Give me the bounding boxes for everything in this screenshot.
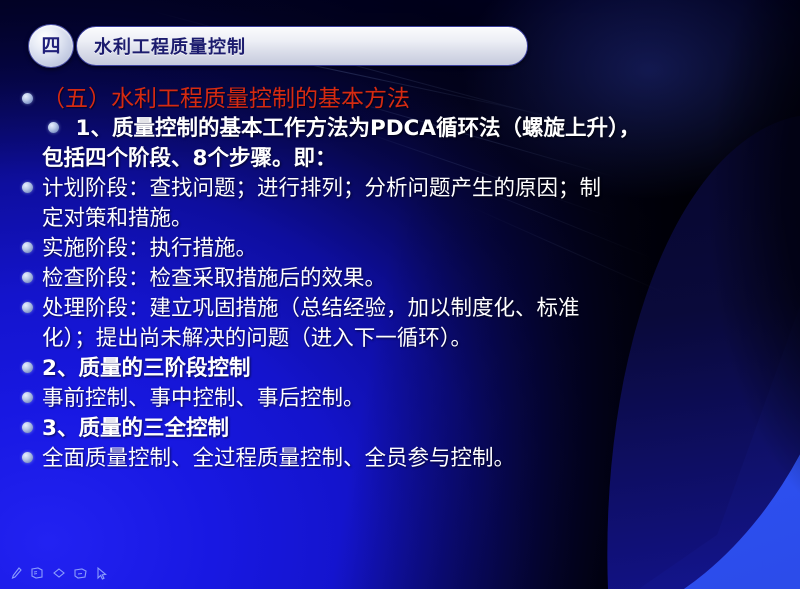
bullet-icon — [22, 422, 33, 433]
bullet-icon — [22, 242, 33, 253]
body-line-text: 包括四个阶段、8个步骤。即： — [42, 146, 336, 171]
body-line-text: 计划阶段：查找问题；进行排列；分析问题产生的原因；制 — [42, 176, 601, 201]
body-line-item-2a: 计划阶段：查找问题；进行排列；分析问题产生的原因；制 — [22, 174, 782, 204]
body-line-text: 事前控制、事中控制、事后控制。 — [42, 386, 365, 411]
body-line-item-8: 3、质量的三全控制 — [22, 414, 782, 444]
slide-title: 水利工程质量控制 — [94, 33, 246, 59]
slideshow-nav-icons[interactable] — [10, 566, 108, 581]
slide-icon[interactable] — [73, 566, 88, 581]
body-line-text: 检查阶段：检查采取措施后的效果。 — [42, 266, 386, 291]
body-line-text: 处理阶段：建立巩固措施（总结经验，加以制度化、标准 — [42, 296, 580, 321]
bullet-icon — [22, 302, 33, 313]
body-line-text: 全面质量控制、全过程质量控制、全员参与控制。 — [42, 446, 515, 471]
body-line-item-5a: 处理阶段：建立巩固措施（总结经验，加以制度化、标准 — [22, 294, 782, 324]
section-number-badge: 四 — [28, 24, 74, 68]
bullet-icon — [22, 392, 33, 403]
body-line-item-2b: 定对策和措施。 — [22, 204, 782, 234]
bullet-icon — [48, 122, 59, 133]
body-line-text: （五）水利工程质量控制的基本方法 — [42, 86, 410, 112]
body-line-item-7: 事前控制、事中控制、事后控制。 — [22, 384, 782, 414]
pen-icon[interactable] — [10, 566, 23, 581]
body-line-text: 3、质量的三全控制 — [42, 416, 229, 441]
bullet-icon — [22, 93, 33, 104]
body-line-item-6: 2、质量的三阶段控制 — [22, 354, 782, 384]
body-line-text: 实施阶段：执行措施。 — [42, 236, 257, 261]
bullet-icon — [22, 272, 33, 283]
slide-title-banner: 水利工程质量控制 四 — [28, 24, 528, 68]
section-number-label: 四 — [41, 37, 60, 56]
body-line-item-3: 实施阶段：执行措施。 — [22, 234, 782, 264]
bullet-icon — [22, 362, 33, 373]
body-line-text: 定对策和措施。 — [42, 206, 193, 231]
body-line-item-1b: 包括四个阶段、8个步骤。即： — [22, 144, 782, 174]
notes-icon[interactable] — [30, 566, 45, 581]
bullet-icon — [22, 452, 33, 463]
body-line-item-4: 检查阶段：检查采取措施后的效果。 — [22, 264, 782, 294]
marker-icon[interactable] — [52, 566, 66, 581]
body-line-item-9: 全面质量控制、全过程质量控制、全员参与控制。 — [22, 444, 782, 474]
bullet-icon — [22, 182, 33, 193]
body-line-item-5b: 化）；提出尚未解决的问题（进入下一循环）。 — [22, 324, 782, 354]
body-line-item-1a: 1、质量控制的基本工作方法为PDCA循环法（螺旋上升）， — [22, 114, 782, 144]
presentation-slide: 水利工程质量控制 四 （五）水利工程质量控制的基本方法 1、质量控制的基本工作方… — [0, 0, 800, 589]
body-line-text: 1、质量控制的基本工作方法为PDCA循环法（螺旋上升）， — [68, 116, 640, 141]
body-line-text: 2、质量的三阶段控制 — [42, 356, 250, 381]
pointer-icon[interactable] — [95, 566, 108, 581]
body-line-text: 化）；提出尚未解决的问题（进入下一循环）。 — [42, 326, 472, 351]
body-line-heading: （五）水利工程质量控制的基本方法 — [22, 84, 782, 114]
slide-body: （五）水利工程质量控制的基本方法 1、质量控制的基本工作方法为PDCA循环法（螺… — [22, 84, 782, 474]
